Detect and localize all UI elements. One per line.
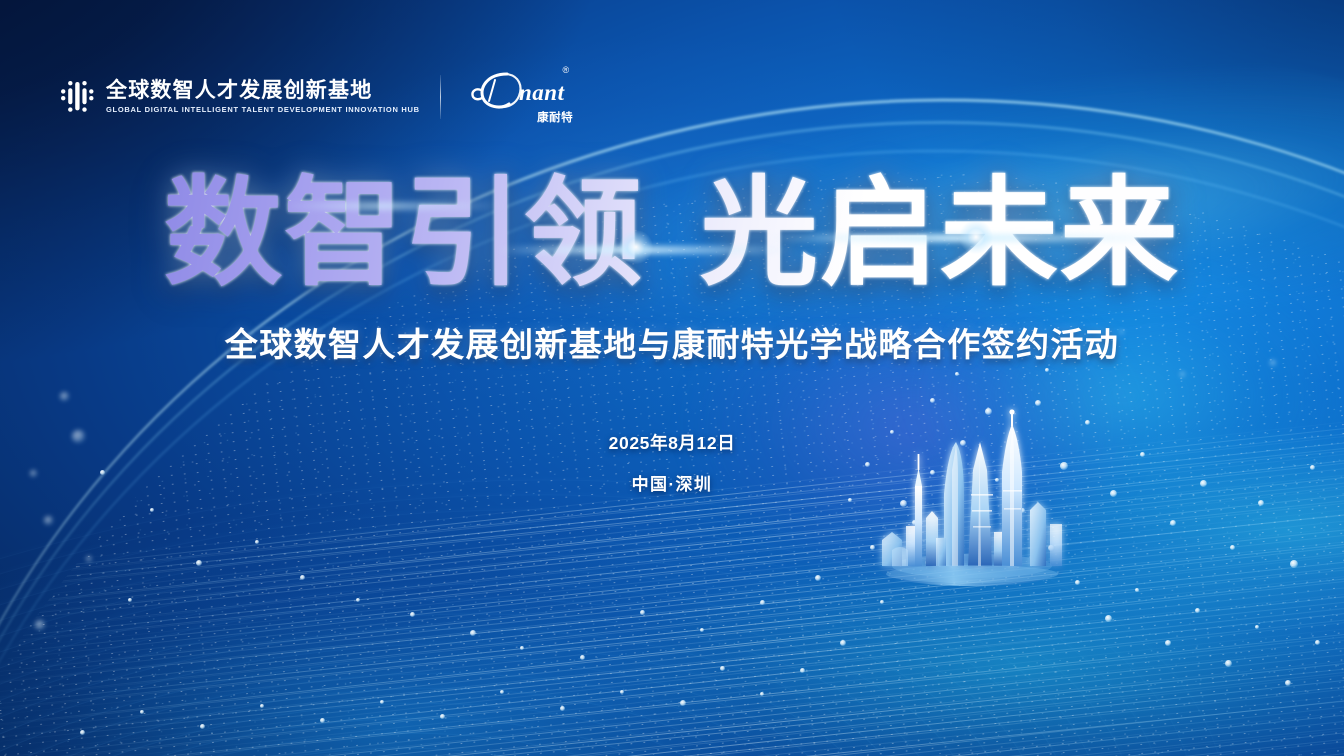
svg-text:nant: nant <box>519 80 565 105</box>
conant-name-cn: 康耐特 <box>537 109 573 125</box>
header-brand-lockup: 全球数智人才发展创新基地 GLOBAL DIGITAL INTELLIGENT … <box>60 68 575 126</box>
conant-logo: nant ® 康耐特 <box>467 68 575 126</box>
main-title: 数智引领光启未来 <box>164 168 1180 300</box>
event-date: 2025年8月12日 <box>0 430 1344 455</box>
main-title-part-2: 光启未来 <box>700 168 1180 300</box>
brand-divider <box>440 75 441 119</box>
main-title-part-1: 数智引领 <box>164 168 644 300</box>
brand-left: 全球数智人才发展创新基地 GLOBAL DIGITAL INTELLIGENT … <box>60 79 416 115</box>
poster-canvas: 全球数智人才发展创新基地 GLOBAL DIGITAL INTELLIGENT … <box>0 0 1344 756</box>
event-location: 中国·深圳 <box>0 470 1344 495</box>
conant-wordmark: nant <box>467 68 575 114</box>
event-info-block: 2025年8月12日 中国·深圳 <box>0 430 1344 495</box>
brand-left-text: 全球数智人才发展创新基地 GLOBAL DIGITAL INTELLIGENT … <box>106 80 416 114</box>
brand-left-name-en: GLOBAL DIGITAL INTELLIGENT TALENT DEVELO… <box>106 106 420 114</box>
shenzhen-skyline-illustration <box>852 398 1100 603</box>
registered-trademark-icon: ® <box>562 66 569 75</box>
title-block: 数智引领光启未来 全球数智人才发展创新基地与康耐特光学战略合作签约活动 <box>0 168 1344 366</box>
subtitle: 全球数智人才发展创新基地与康耐特光学战略合作签约活动 <box>0 318 1344 366</box>
brand-left-name-cn: 全球数智人才发展创新基地 <box>106 80 416 102</box>
dot-matrix-equalizer-icon <box>60 79 94 115</box>
